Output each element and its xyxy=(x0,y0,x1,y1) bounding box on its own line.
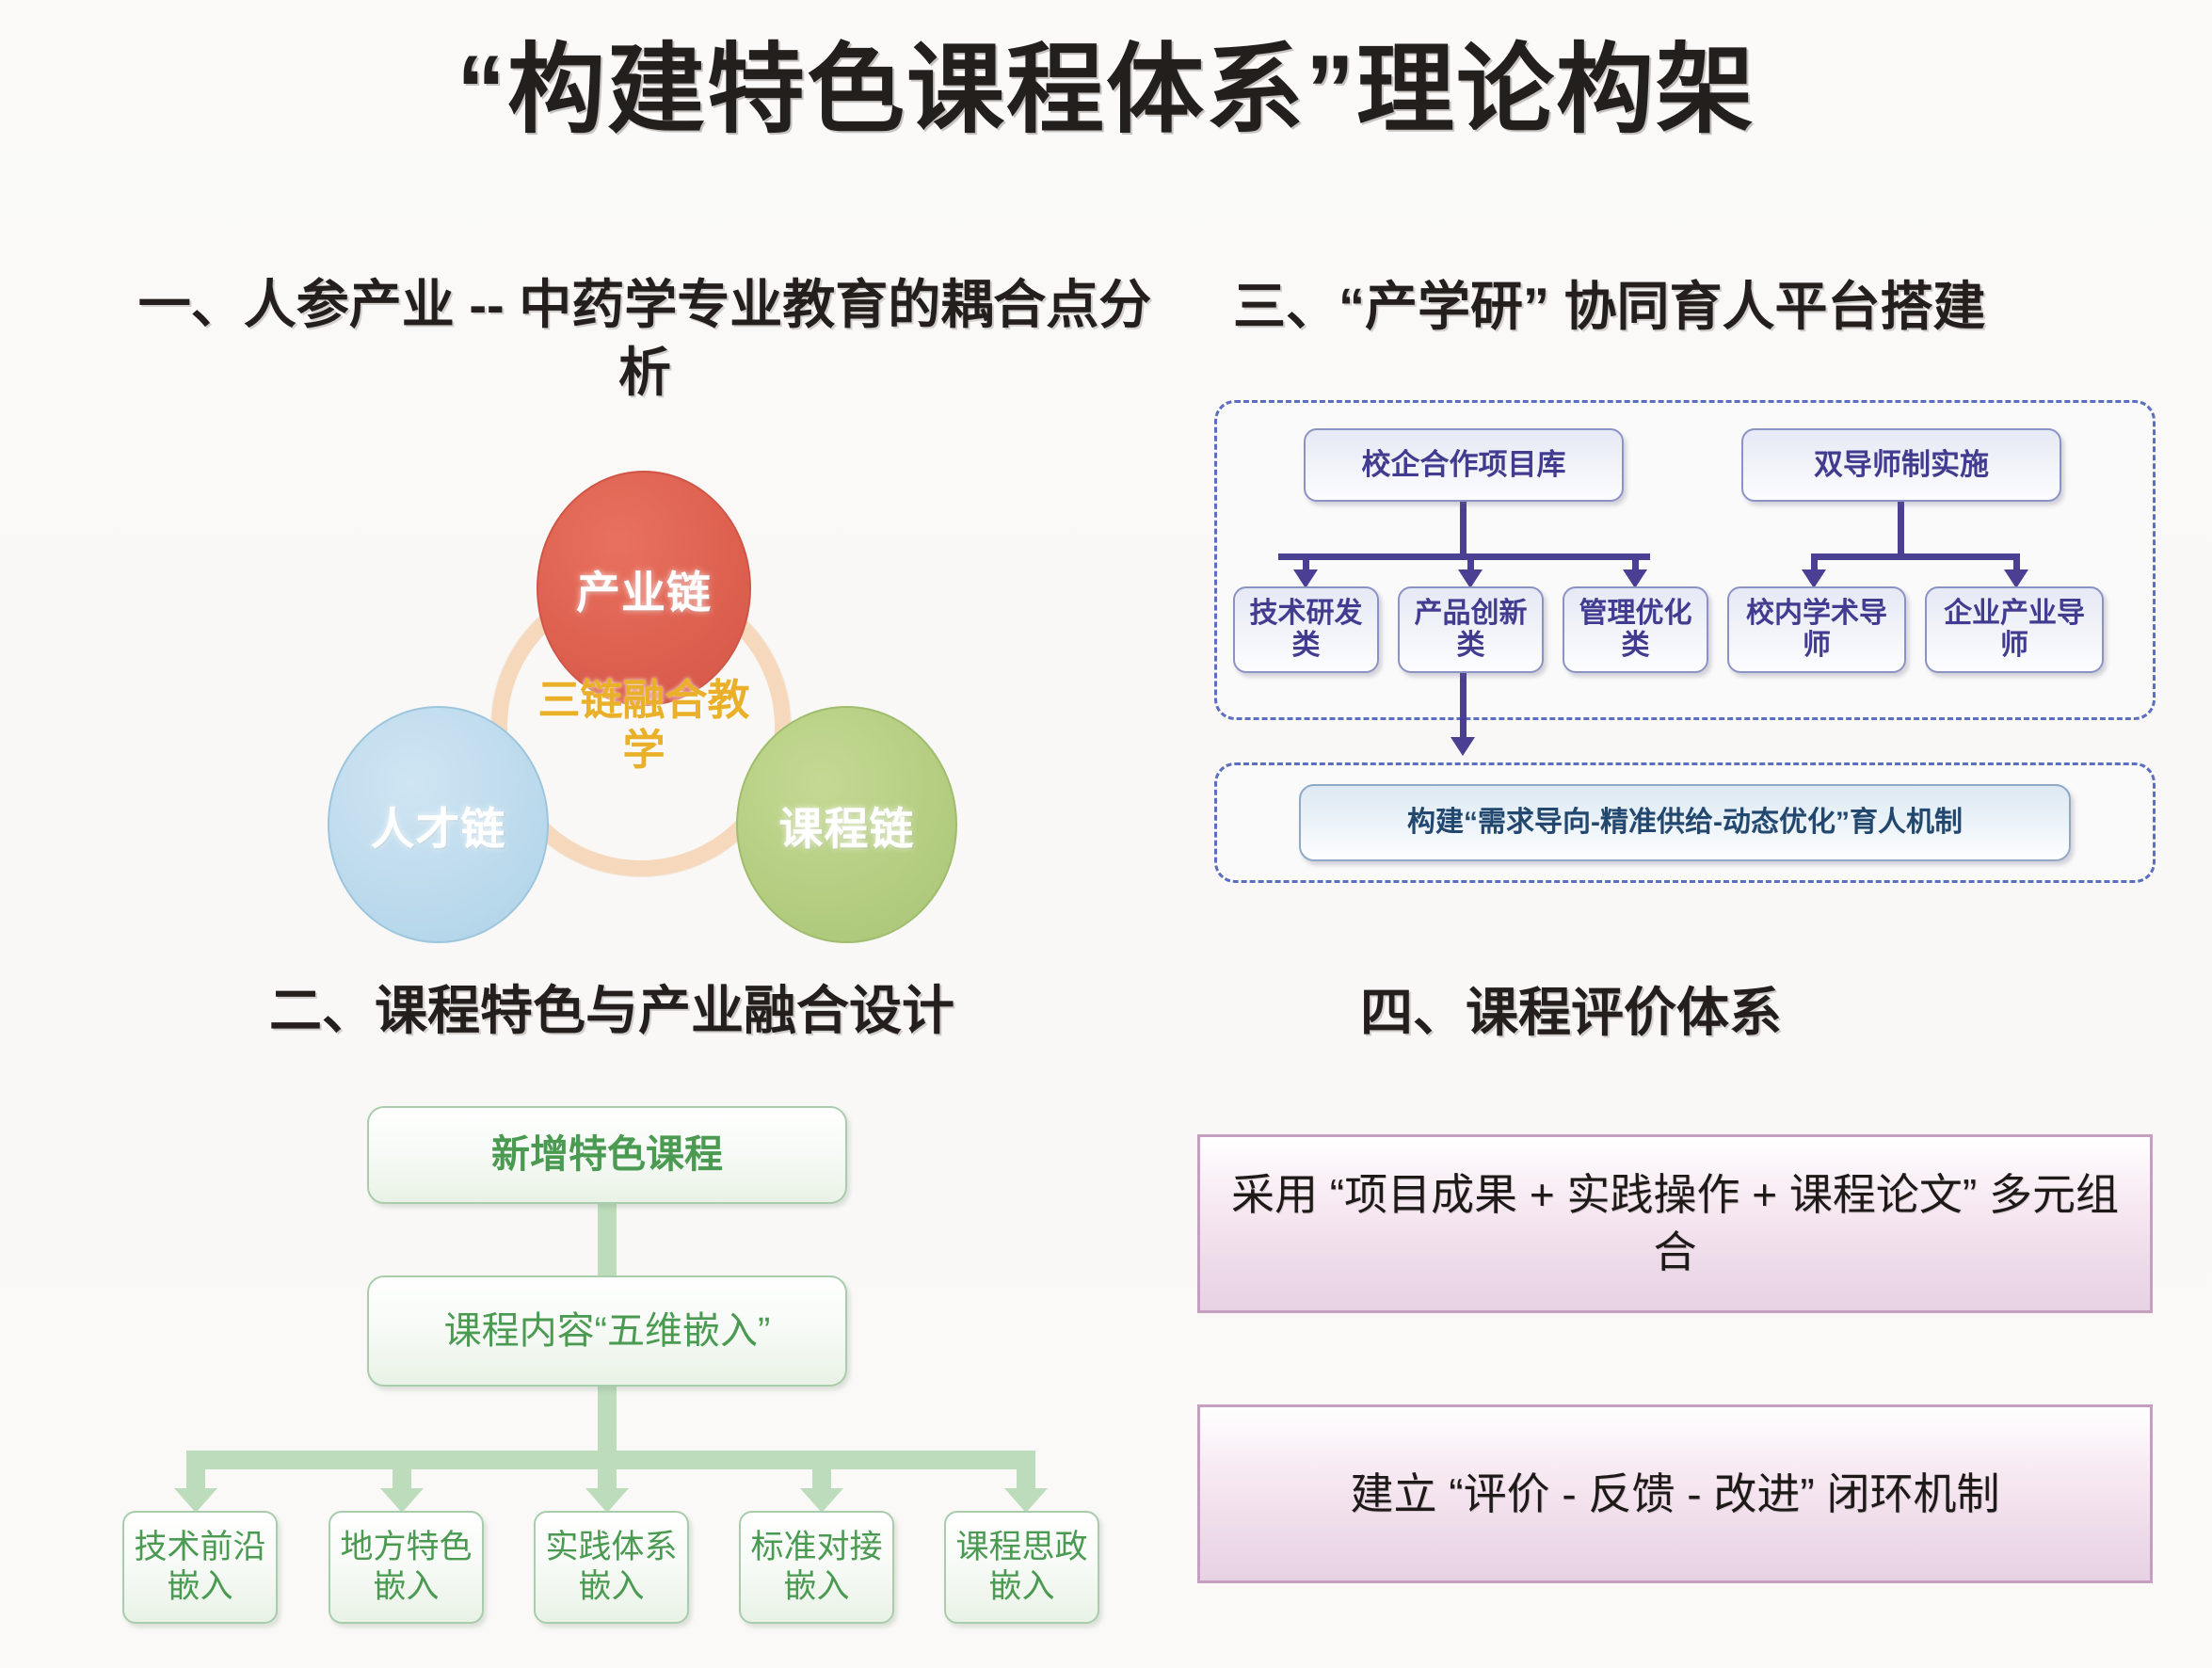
blue-arrow-icon-l3 xyxy=(1623,569,1647,588)
section-two-heading: 二、课程特色与产业融合设计 xyxy=(104,977,1120,1045)
green-connector-arm-1 xyxy=(186,1469,205,1490)
blue-top-label-2: 双导师制实施 xyxy=(1814,448,1989,482)
blue-arrow-icon-r1 xyxy=(1802,569,1826,588)
blue-leaf-box-tech-rnd[interactable]: 技术研发类 xyxy=(1233,586,1379,673)
blue-bottom-label: 构建“需求导向-精准供给-动态优化”育人机制 xyxy=(1407,807,1963,840)
green-box-new-featured-courses[interactable]: 新增特色课程 xyxy=(367,1106,847,1204)
blue-box-school-enterprise-project-library[interactable]: 校企合作项目库 xyxy=(1304,428,1624,502)
green-connector-vertical-top xyxy=(598,1204,617,1277)
blue-leaf-box-campus-academic-mentor[interactable]: 校内学术导师 xyxy=(1727,586,1906,673)
green-leaf-box-ideological-education[interactable]: 课程思政嵌入 xyxy=(944,1511,1099,1624)
green-leaf-label-4: 标准对接嵌入 xyxy=(750,1528,883,1607)
venn-circle-industry-chain[interactable]: 产业链 xyxy=(537,471,751,706)
blue-connector-h-left xyxy=(1278,553,1650,560)
blue-leaf-label-4: 校内学术导师 xyxy=(1735,598,1899,663)
green-connector-arm-3 xyxy=(598,1469,617,1490)
green-leaf-label-5: 课程思政嵌入 xyxy=(955,1528,1088,1607)
green-connector-arm-5 xyxy=(1017,1469,1035,1490)
pink-box-closed-loop-mechanism[interactable]: 建立 “评价 - 反馈 - 改进” 闭环机制 xyxy=(1197,1404,2153,1583)
green-leaf-box-local-feature[interactable]: 地方特色嵌入 xyxy=(329,1511,484,1624)
green-arrow-icon-3 xyxy=(585,1488,629,1513)
blue-connector-v-left xyxy=(1460,502,1467,560)
blue-leaf-label-3: 管理优化类 xyxy=(1570,598,1701,663)
blue-leaf-label-2: 产品创新类 xyxy=(1405,598,1536,663)
blue-leaf-box-management-optimization[interactable]: 管理优化类 xyxy=(1563,586,1708,673)
blue-arrow-icon-r2 xyxy=(2004,569,2028,588)
venn-left-label: 人才链 xyxy=(371,793,506,858)
blue-leaf-label-5: 企业产业导师 xyxy=(1932,598,2096,663)
venn-circle-course-chain[interactable]: 课程链 xyxy=(736,706,957,943)
section-one-heading: 一、人参产业 -- 中药学专业教育的耦合点分析 xyxy=(132,271,1158,406)
course-design-flowchart: 新增特色课程 课程内容“五维嵌入” 技术前沿嵌入 地方特色嵌入 实践体系嵌入 标… xyxy=(122,1097,1158,1661)
section-four-heading: 四、课程评价体系 xyxy=(1360,979,2207,1047)
section-three-heading: 三、“产学研” 协同育人平台搭建 xyxy=(1233,273,2193,341)
slide-canvas: “构建特色课程体系”理论构架 一、人参产业 -- 中药学专业教育的耦合点分析 人… xyxy=(0,0,2212,1668)
blue-arrow-icon-l1 xyxy=(1293,569,1318,588)
industry-academia-platform-flowchart: 校企合作项目库 双导师制实施 技术研发类 产品创新类 管理优化类 校内学术导师 … xyxy=(1214,400,2165,890)
blue-arrow-icon-bottom xyxy=(1451,737,1475,756)
green-box-mid-label: 课程内容“五维嵌入” xyxy=(444,1308,771,1354)
blue-box-talent-cultivation-mechanism[interactable]: 构建“需求导向-精准供给-动态优化”育人机制 xyxy=(1299,784,2071,861)
blue-top-label-1: 校企合作项目库 xyxy=(1362,448,1566,482)
pink-box-label-1: 采用 “项目成果 + 实践操作 + 课程论文” 多元组合 xyxy=(1221,1166,2129,1280)
green-leaf-box-practice-system[interactable]: 实践体系嵌入 xyxy=(534,1511,689,1624)
pink-box-label-2: 建立 “评价 - 反馈 - 改进” 闭环机制 xyxy=(1351,1466,2000,1523)
green-leaf-label-1: 技术前沿嵌入 xyxy=(134,1528,266,1607)
venn-right-label: 课程链 xyxy=(779,793,915,858)
three-chain-venn-diagram: 人才链 课程链 产业链 三链融合教学 xyxy=(311,466,970,960)
green-box-top-label: 新增特色课程 xyxy=(491,1131,723,1178)
green-arrow-icon-4 xyxy=(800,1488,843,1513)
blue-box-dual-mentor-system[interactable]: 双导师制实施 xyxy=(1741,428,2061,502)
blue-connector-v-right xyxy=(1898,502,1904,560)
venn-circle-talent-chain[interactable]: 人才链 xyxy=(328,706,549,943)
green-connector-arm-2 xyxy=(393,1469,411,1490)
blue-connector-h-right xyxy=(1811,553,2020,560)
green-arrow-icon-1 xyxy=(174,1488,217,1513)
green-leaf-label-3: 实践体系嵌入 xyxy=(545,1528,678,1607)
green-arrow-icon-2 xyxy=(380,1488,424,1513)
page-title: “构建特色课程体系”理论构架 xyxy=(0,9,2212,152)
green-leaf-box-standard-alignment[interactable]: 标准对接嵌入 xyxy=(739,1511,894,1624)
blue-leaf-box-product-innovation[interactable]: 产品创新类 xyxy=(1398,586,1544,673)
blue-leaf-box-enterprise-industry-mentor[interactable]: 企业产业导师 xyxy=(1925,586,2104,673)
green-connector-arm-4 xyxy=(812,1469,831,1490)
blue-arrow-icon-l2 xyxy=(1458,569,1483,588)
green-leaf-box-tech-frontier[interactable]: 技术前沿嵌入 xyxy=(122,1511,278,1624)
green-connector-vertical-mid xyxy=(598,1387,617,1454)
pink-box-assessment-composition[interactable]: 采用 “项目成果 + 实践操作 + 课程论文” 多元组合 xyxy=(1197,1134,2153,1313)
venn-center-label: 三链融合教学 xyxy=(535,675,753,775)
green-leaf-label-2: 地方特色嵌入 xyxy=(340,1528,473,1607)
green-connector-horizontal-bus xyxy=(186,1451,1035,1469)
blue-connector-v-bottom xyxy=(1460,673,1467,741)
venn-top-label: 产业链 xyxy=(576,556,712,621)
blue-leaf-label-1: 技术研发类 xyxy=(1241,598,1371,663)
green-box-five-dimension-embedding[interactable]: 课程内容“五维嵌入” xyxy=(367,1275,847,1387)
green-arrow-icon-5 xyxy=(1004,1488,1048,1513)
